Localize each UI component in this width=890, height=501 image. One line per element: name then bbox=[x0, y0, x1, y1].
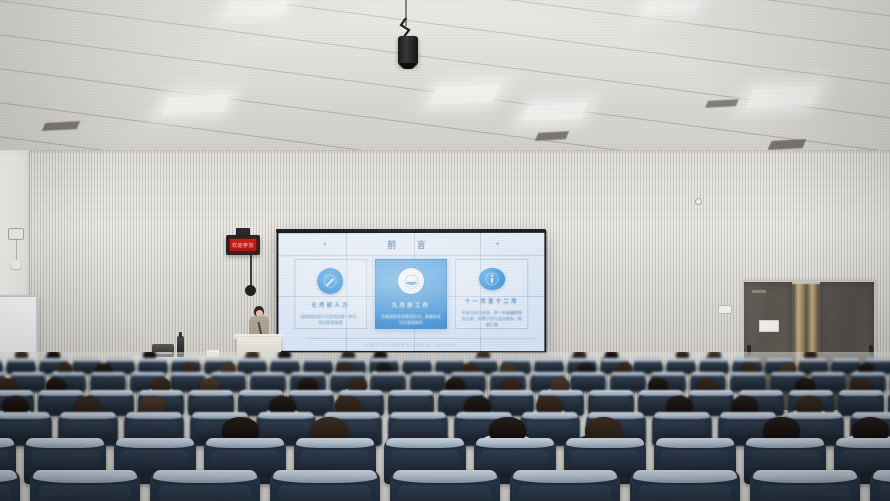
slide-card-right[interactable]: 十一月至十二月 年度总结与复盘，新一年度编制规划大纲，招聘计划与培训体系，制度汇… bbox=[455, 259, 528, 329]
wall-outlet-plate bbox=[718, 305, 732, 314]
auditorium-seat[interactable] bbox=[750, 470, 860, 501]
auditorium-seat[interactable] bbox=[30, 470, 140, 501]
slide-card-middle-heading: 九月份工作 bbox=[392, 301, 431, 309]
auditorium-seat[interactable] bbox=[90, 372, 126, 392]
door-sign bbox=[759, 320, 779, 332]
auditorium-seat[interactable] bbox=[270, 470, 380, 501]
auditorium-seat[interactable] bbox=[870, 470, 890, 501]
slide-card-row: 七月初人力 组织机构设计与定岗定编一体化，岗位职责梳理 九月份工作 完善绩效考核… bbox=[294, 259, 528, 329]
auditorium-seat[interactable] bbox=[390, 470, 500, 501]
led-sign-cable bbox=[250, 255, 252, 287]
auditorium-seat[interactable] bbox=[370, 372, 406, 392]
auditorium-seat[interactable] bbox=[570, 372, 606, 392]
slide-card-middle-body: 完善绩效考核管理办法，薪酬体系优化管理操作 bbox=[376, 314, 447, 326]
info-circle-icon bbox=[479, 268, 505, 290]
slide-card-right-heading: 十一月至十二月 bbox=[465, 297, 519, 305]
door-plate-icon bbox=[752, 290, 766, 293]
auditorium-seat[interactable] bbox=[0, 470, 20, 501]
wall-conduit bbox=[16, 240, 17, 262]
projection-screen[interactable]: ✦ ✦ 前 言 七月初人力 组织机构设计与定岗定编一体化，岗位职责梳理 bbox=[276, 231, 546, 353]
auditorium-seat[interactable] bbox=[150, 470, 260, 501]
auditorium-seat[interactable] bbox=[510, 470, 620, 501]
pen-circle-icon bbox=[318, 268, 344, 294]
slide-card-left[interactable]: 七月初人力 组织机构设计与定岗定编一体化，岗位职责梳理 bbox=[294, 259, 366, 329]
slide-card-left-heading: 七月初人力 bbox=[311, 301, 349, 309]
auditorium-seat[interactable] bbox=[250, 372, 286, 392]
slide-title: 前 言 bbox=[278, 238, 544, 251]
auditorium-seat[interactable] bbox=[610, 372, 646, 392]
slide-footer-text: 本课件仅供内部教学交流使用，请勿外传 bbox=[278, 343, 544, 348]
slide-card-left-body: 组织机构设计与定岗定编一体化，岗位职责梳理 bbox=[295, 314, 365, 326]
slide-card-right-body: 年度总结与复盘，新一年度编制规划大纲，招聘计划与培训体系，制度汇编 bbox=[456, 310, 527, 328]
presentation-slide: ✦ ✦ 前 言 七月初人力 组织机构设计与定岗定编一体化，岗位职责梳理 bbox=[278, 233, 544, 351]
ceiling-projector-device bbox=[398, 36, 418, 66]
slide-footer-rule bbox=[306, 338, 534, 339]
audience-seating-area bbox=[0, 352, 890, 501]
ceiling-light-panel bbox=[162, 94, 231, 114]
wall-led-sign[interactable]: 欢迎参加 bbox=[226, 235, 260, 255]
wall-speaker-icon bbox=[11, 260, 21, 269]
wall-junction-box bbox=[8, 228, 24, 240]
led-sign-plug-icon bbox=[245, 285, 256, 296]
slide-guide-line bbox=[278, 255, 544, 256]
auditorium-seat[interactable] bbox=[410, 372, 446, 392]
slide-card-middle[interactable]: 九月份工作 完善绩效考核管理办法，薪酬体系优化管理操作 bbox=[375, 259, 448, 329]
book-circle-icon bbox=[398, 268, 424, 294]
lecture-hall-photo: 欢迎参加 ✦ ✦ 前 言 bbox=[0, 0, 890, 501]
led-sign-screen: 欢迎参加 bbox=[230, 239, 256, 251]
auditorium-seat[interactable] bbox=[630, 470, 740, 501]
ceiling-light-panel bbox=[745, 86, 818, 107]
auditorium-seat[interactable] bbox=[730, 372, 766, 392]
wall-sensor-icon bbox=[695, 198, 702, 205]
led-sign-text: 欢迎参加 bbox=[232, 242, 254, 249]
